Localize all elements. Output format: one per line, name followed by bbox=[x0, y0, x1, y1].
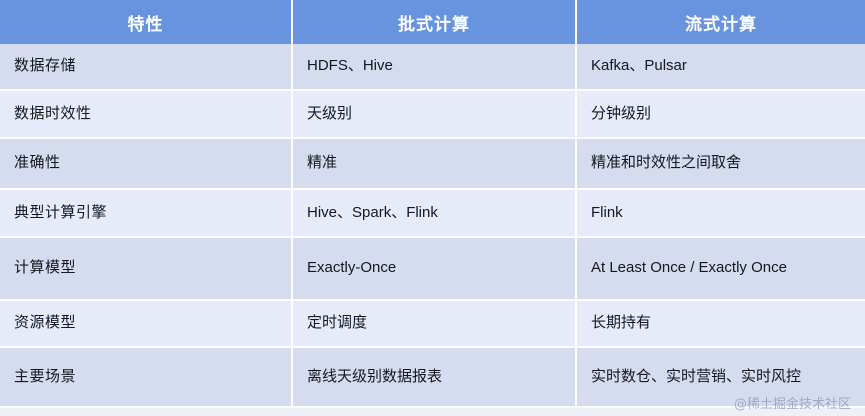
table-row: 资源模型 定时调度 长期持有 bbox=[0, 300, 865, 347]
cell-feature: 数据时效性 bbox=[0, 90, 292, 138]
column-header-stream: 流式计算 bbox=[576, 0, 865, 44]
cell-batch: 天级别 bbox=[292, 90, 576, 138]
cell-stream: Flink bbox=[576, 189, 865, 237]
table-row: 数据存储 HDFS、Hive Kafka、Pulsar bbox=[0, 44, 865, 90]
cell-batch: 定时调度 bbox=[292, 300, 576, 347]
table-header-row: 特性 批式计算 流式计算 bbox=[0, 0, 865, 44]
column-header-batch: 批式计算 bbox=[292, 0, 576, 44]
cell-feature: 准确性 bbox=[0, 138, 292, 189]
cell-stream: At Least Once / Exactly Once bbox=[576, 237, 865, 300]
table-row: 计算模型 Exactly-Once At Least Once / Exactl… bbox=[0, 237, 865, 300]
cell-stream: 长期持有 bbox=[576, 300, 865, 347]
cell-stream: Kafka、Pulsar bbox=[576, 44, 865, 90]
cell-feature: 主要场景 bbox=[0, 347, 292, 407]
cell-stream: 分钟级别 bbox=[576, 90, 865, 138]
feature-comparison-table: 特性 批式计算 流式计算 数据存储 HDFS、Hive Kafka、Pulsar… bbox=[0, 0, 865, 408]
cell-batch: 精准 bbox=[292, 138, 576, 189]
table-header: 特性 批式计算 流式计算 bbox=[0, 0, 865, 44]
cell-stream: 精准和时效性之间取舍 bbox=[576, 138, 865, 189]
cell-feature: 计算模型 bbox=[0, 237, 292, 300]
cell-batch: Hive、Spark、Flink bbox=[292, 189, 576, 237]
column-header-feature: 特性 bbox=[0, 0, 292, 44]
table-row: 典型计算引擎 Hive、Spark、Flink Flink bbox=[0, 189, 865, 237]
cell-feature: 数据存储 bbox=[0, 44, 292, 90]
cell-batch: 离线天级别数据报表 bbox=[292, 347, 576, 407]
table-body: 数据存储 HDFS、Hive Kafka、Pulsar 数据时效性 天级别 分钟… bbox=[0, 44, 865, 407]
cell-batch: HDFS、Hive bbox=[292, 44, 576, 90]
cell-feature: 典型计算引擎 bbox=[0, 189, 292, 237]
comparison-table-container: AOF 若不是你 AOF 若不是 AOF 特性 批式计算 流式计算 数据存储 H… bbox=[0, 0, 865, 416]
table-row: 数据时效性 天级别 分钟级别 bbox=[0, 90, 865, 138]
cell-batch: Exactly-Once bbox=[292, 237, 576, 300]
corner-watermark: @稀土掘金技术社区 bbox=[734, 393, 851, 412]
table-row: 准确性 精准 精准和时效性之间取舍 bbox=[0, 138, 865, 189]
cell-feature: 资源模型 bbox=[0, 300, 292, 347]
